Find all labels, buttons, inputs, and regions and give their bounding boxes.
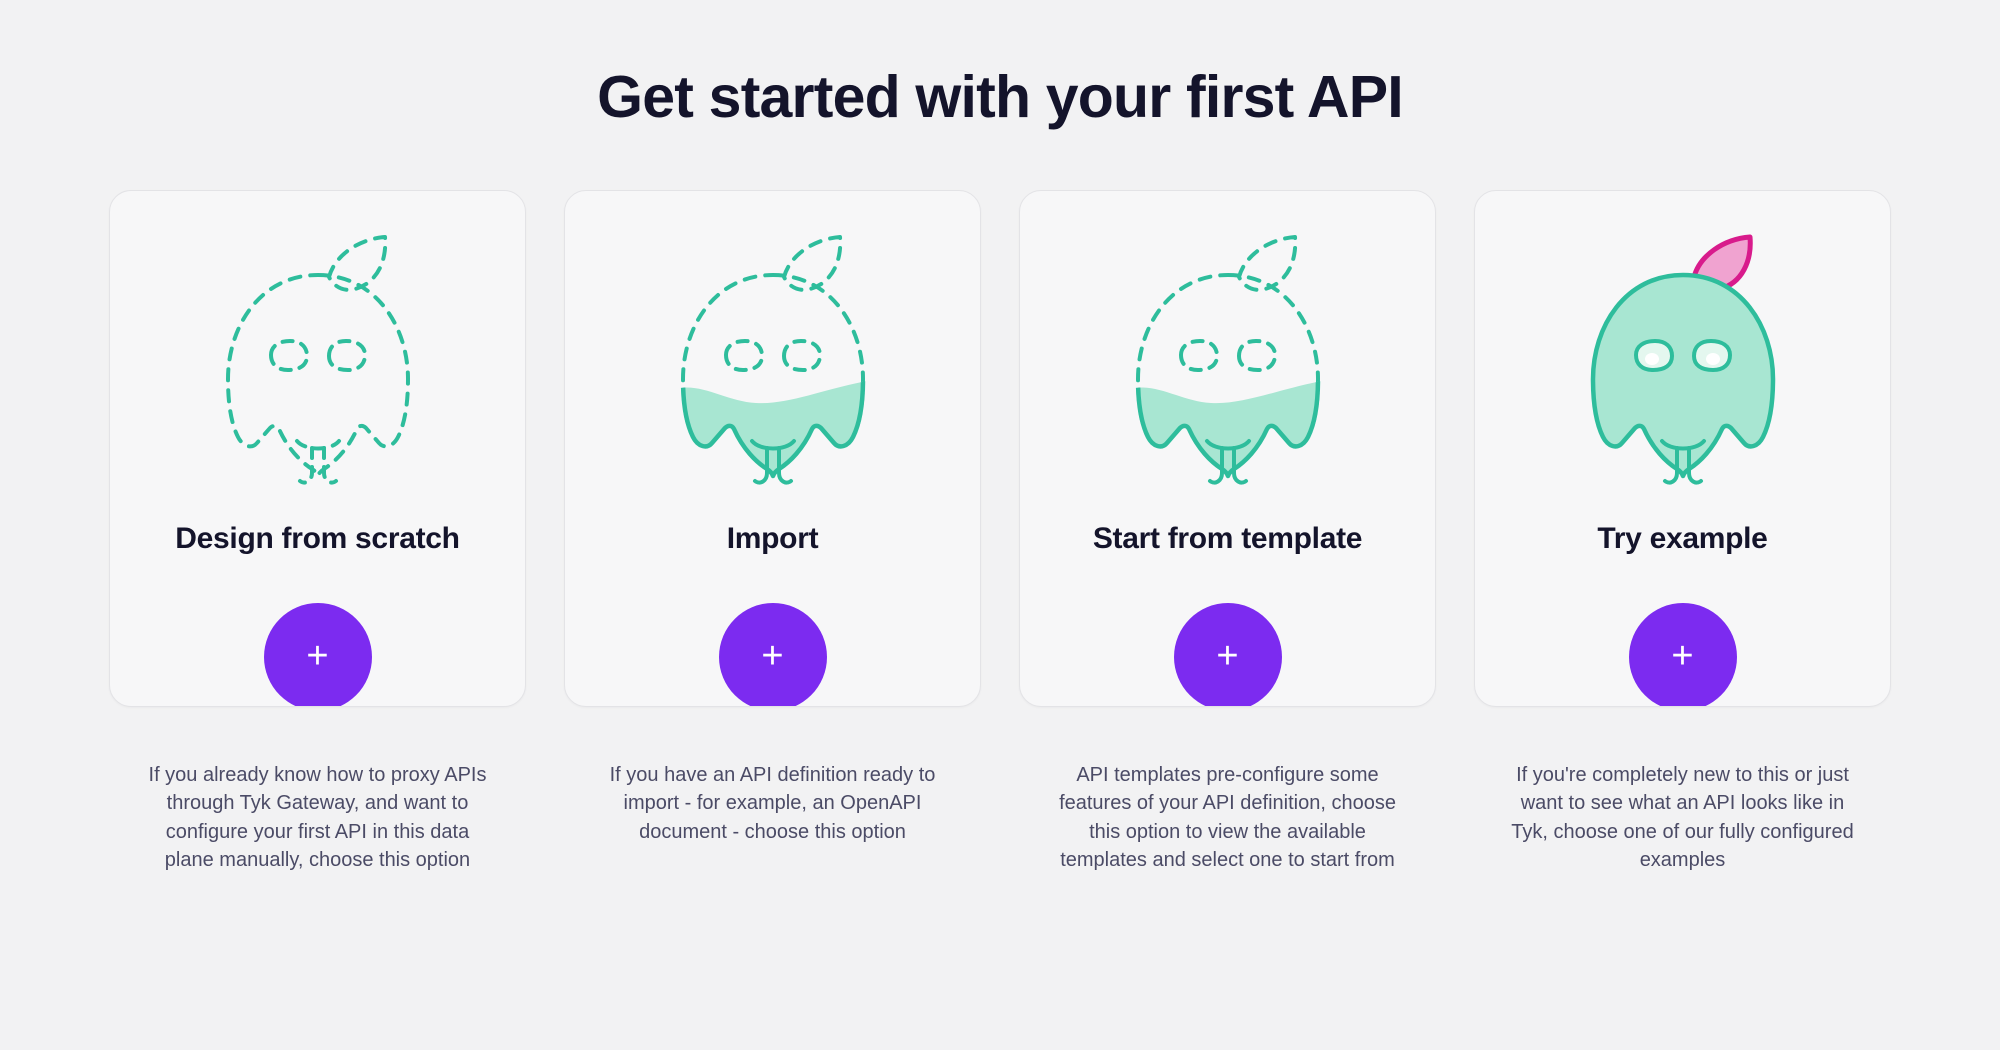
add-design-from-scratch-button[interactable]: + <box>264 603 372 707</box>
plus-icon: + <box>1216 637 1238 675</box>
add-import-button[interactable]: + <box>719 603 827 707</box>
card-description: If you have an API definition ready to i… <box>600 761 945 846</box>
card-title: Start from template <box>1093 521 1362 557</box>
tyk-mascot-half-icon <box>1078 213 1378 513</box>
card-body-import[interactable]: Import + <box>564 190 981 707</box>
page-title: Get started with your first API <box>0 0 2000 132</box>
card-title: Try example <box>1597 521 1767 557</box>
card-title: Import <box>727 521 819 557</box>
plus-icon: + <box>761 637 783 675</box>
add-start-from-template-button[interactable]: + <box>1174 603 1282 707</box>
option-card-try-example: Try example + If you're completely new t… <box>1474 190 1891 875</box>
card-title: Design from scratch <box>175 521 459 557</box>
card-body-design-from-scratch[interactable]: Design from scratch + <box>109 190 526 707</box>
card-description: If you're completely new to this or just… <box>1510 761 1855 875</box>
tyk-mascot-empty-icon <box>168 213 468 513</box>
plus-icon: + <box>306 637 328 675</box>
option-card-import: Import + If you have an API definition r… <box>564 190 981 875</box>
option-card-start-from-template: Start from template + API templates pre-… <box>1019 190 1436 875</box>
getting-started-page: Get started with your first API <box>0 0 2000 1050</box>
plus-icon: + <box>1671 637 1693 675</box>
option-cards-row: Design from scratch + If you already kno… <box>0 190 2000 875</box>
option-card-design-from-scratch: Design from scratch + If you already kno… <box>109 190 526 875</box>
tyk-mascot-half-icon <box>623 213 923 513</box>
add-try-example-button[interactable]: + <box>1629 603 1737 707</box>
card-description: If you already know how to proxy APIs th… <box>145 761 490 875</box>
tyk-mascot-full-icon <box>1533 213 1833 513</box>
card-description: API templates pre-configure some feature… <box>1055 761 1400 875</box>
card-body-start-from-template[interactable]: Start from template + <box>1019 190 1436 707</box>
card-body-try-example[interactable]: Try example + <box>1474 190 1891 707</box>
